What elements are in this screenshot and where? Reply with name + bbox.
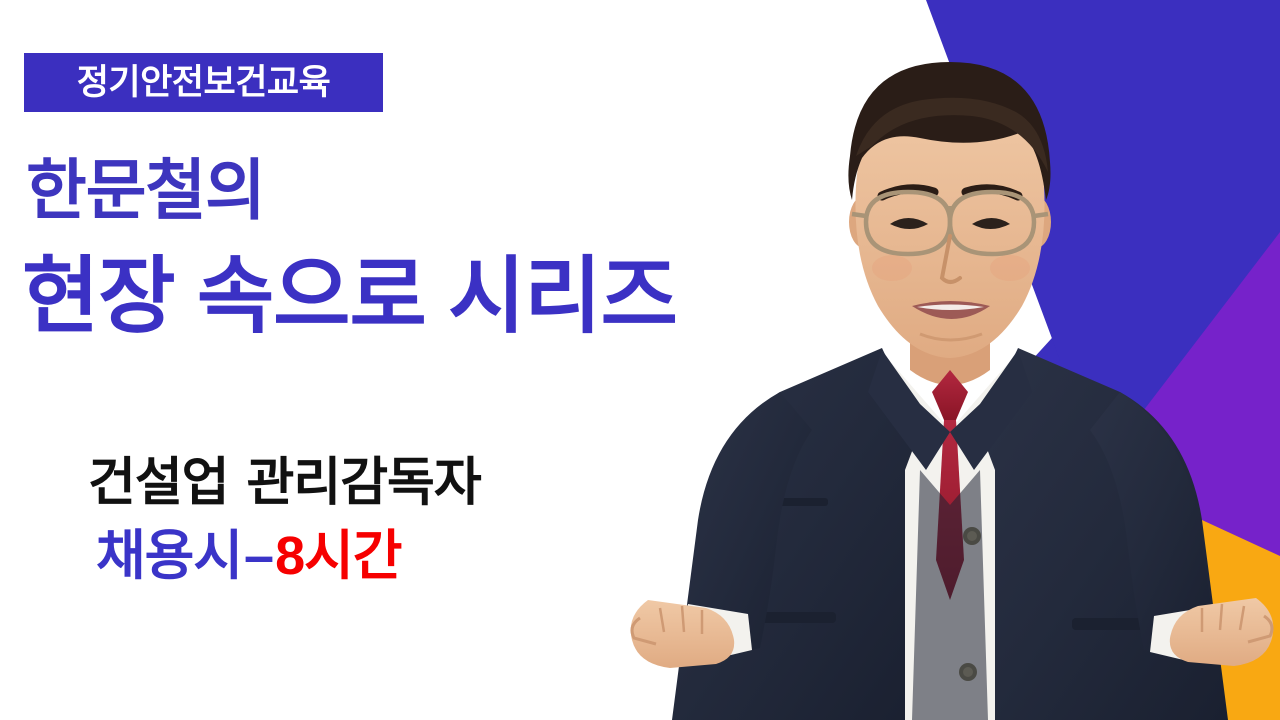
course-subtitle-role: 관리감독자 xyxy=(247,454,481,512)
course-subtitle-line-1: 건설업관리감독자 xyxy=(88,455,481,512)
headline-text-block: 정기안전보건교육 한문철의 현장 속으로 시리즈 건설업관리감독자 채용시–8시… xyxy=(0,0,880,720)
course-duration-hours: 8시간 xyxy=(275,526,401,586)
purple-diagonal-band xyxy=(1098,232,1280,720)
indigo-diagonal-band-main xyxy=(926,0,1280,472)
series-title-line-1: 한문철의 xyxy=(26,156,265,225)
course-dash-separator: – xyxy=(242,526,275,586)
indigo-diagonal-band xyxy=(925,0,1280,430)
series-title-line-2: 현장 속으로 시리즈 xyxy=(22,252,677,340)
course-timing-label: 채용시 xyxy=(96,526,242,586)
course-category-badge-label: 정기안전보건교육 xyxy=(77,65,331,100)
course-subtitle-line-2: 채용시–8시간 xyxy=(96,527,402,586)
course-subtitle-industry: 건설업 xyxy=(88,454,229,512)
video-thumbnail: 정기안전보건교육 한문철의 현장 속으로 시리즈 건설업관리감독자 채용시–8시… xyxy=(0,0,1280,720)
course-category-badge: 정기안전보건교육 xyxy=(24,53,383,112)
